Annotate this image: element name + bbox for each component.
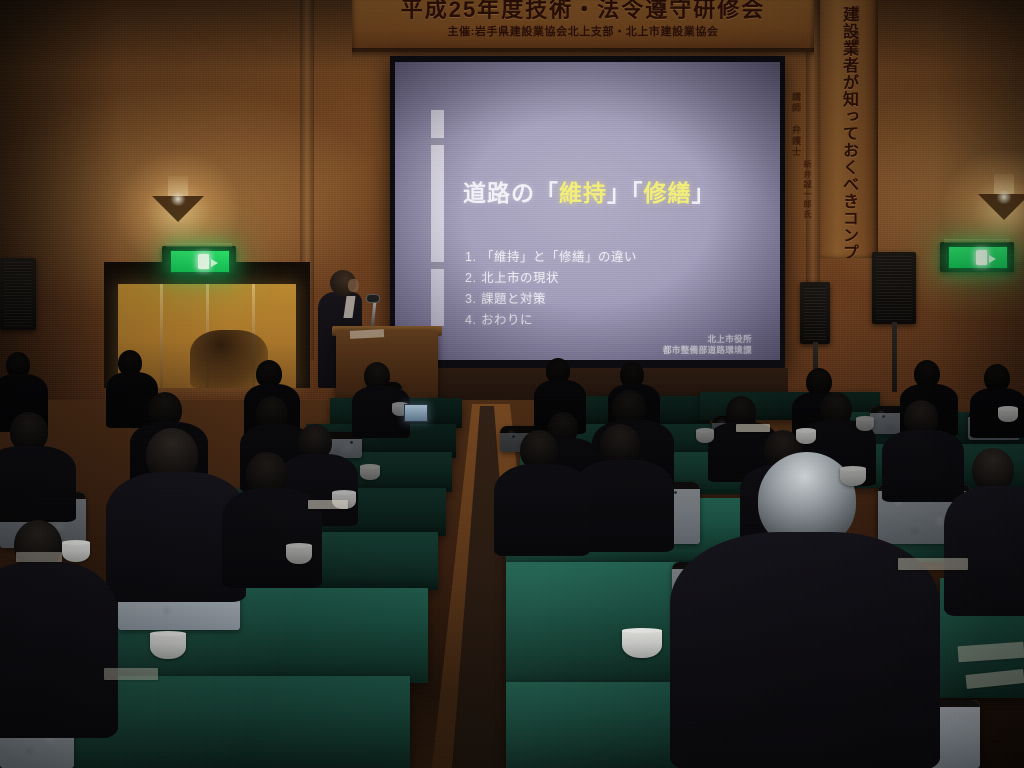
event-banner: 平成25年度技術・法令遵守研修会 主催:岩手県建設業協会北上支部・北上市建設業協… xyxy=(352,0,814,52)
vertical-banner-speaker-label: 講師 弁護士 xyxy=(790,92,803,158)
exit-running-man-icon-right xyxy=(976,250,987,265)
pa-speaker-stand-right xyxy=(892,322,897,392)
pa-speaker-mesh-right xyxy=(876,256,912,320)
seminar-hall-photo: 平成25年度技術・法令遵守研修会 主催:岩手県建設業協会北上支部・北上市建設業協… xyxy=(0,0,1024,768)
teacup xyxy=(286,545,312,564)
laptop-screen[interactable] xyxy=(404,404,428,422)
vertical-banner-tag: 講師 弁護士 xyxy=(850,6,860,54)
event-banner-subtitle: 主催:岩手県建設業協会北上支部・北上市建設業協会 xyxy=(352,25,814,40)
teacup xyxy=(840,468,866,486)
exit-running-man-icon-left xyxy=(198,254,209,269)
wall-sconce-left xyxy=(146,178,210,230)
teacup xyxy=(796,430,816,444)
teacup xyxy=(856,418,874,431)
document-sheet xyxy=(898,558,968,570)
sconce-core-left xyxy=(170,192,186,206)
presenter-face xyxy=(348,279,359,292)
teacup xyxy=(998,408,1018,422)
teacup xyxy=(62,542,90,562)
exit-sign-left xyxy=(170,250,230,273)
teacup xyxy=(150,633,186,659)
document-sheet xyxy=(104,668,158,680)
pa-speaker-mesh-far-right xyxy=(804,286,826,340)
microphone-head xyxy=(366,294,380,303)
pa-speaker-left xyxy=(0,258,36,330)
document-sheet xyxy=(308,500,348,509)
screen-vignette xyxy=(395,62,780,360)
pa-speaker-right xyxy=(872,252,916,324)
door-mullion-1 xyxy=(160,284,163,388)
document-sheet xyxy=(16,552,62,562)
teacup xyxy=(622,630,662,658)
exit-arrow-icon-right xyxy=(989,255,996,263)
teacup xyxy=(696,430,714,443)
wall-sconce-right xyxy=(972,176,1024,228)
exit-sign-lip-right xyxy=(944,239,1010,243)
exit-sign-right xyxy=(948,246,1008,269)
pa-speaker-mesh-left xyxy=(4,262,32,326)
exit-sign-lip-left xyxy=(166,243,232,247)
exit-arrow-icon-left xyxy=(211,259,218,267)
projection-screen: 道路の「維持」「修繕」 1.「維持」と「修繕」の違い 2.北上市の現状 3.課題… xyxy=(395,62,780,360)
sconce-core-right xyxy=(996,190,1012,204)
vertical-banner: 建設業者が知っておくべきコンプライアンス xyxy=(820,0,878,258)
event-banner-title: 平成25年度技術・法令遵守研修会 xyxy=(352,0,814,25)
pa-speaker-far-right xyxy=(800,282,830,344)
teacup xyxy=(360,466,380,480)
vertical-banner-speaker-name: 新井誠一郎氏 xyxy=(802,160,813,220)
document-sheet xyxy=(736,424,770,432)
